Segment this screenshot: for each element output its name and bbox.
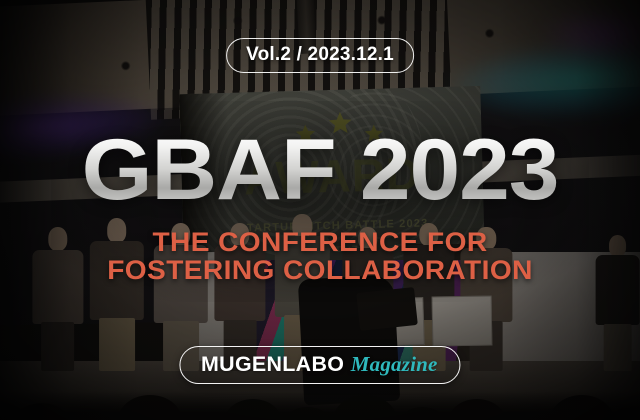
magazine-cover-poster: AWARD STARTUP PITCH BATTLE 2023 オーディエンス賞… (0, 0, 640, 420)
subtitle: THE CONFERENCE FOR FOSTERING COLLABORATI… (0, 228, 640, 284)
logo-secondary-text: Magazine (351, 352, 438, 377)
subtitle-line-1: THE CONFERENCE FOR (152, 227, 487, 257)
mugenlabo-magazine-logo: MUGENLABO Magazine (179, 346, 460, 384)
subtitle-line-2: FOSTERING COLLABORATION (0, 256, 640, 284)
volume-date-badge: Vol.2 / 2023.12.1 (226, 38, 414, 73)
logo-primary-text: MUGENLABO (201, 353, 344, 377)
page-title: GBAF 2023 (0, 131, 640, 210)
